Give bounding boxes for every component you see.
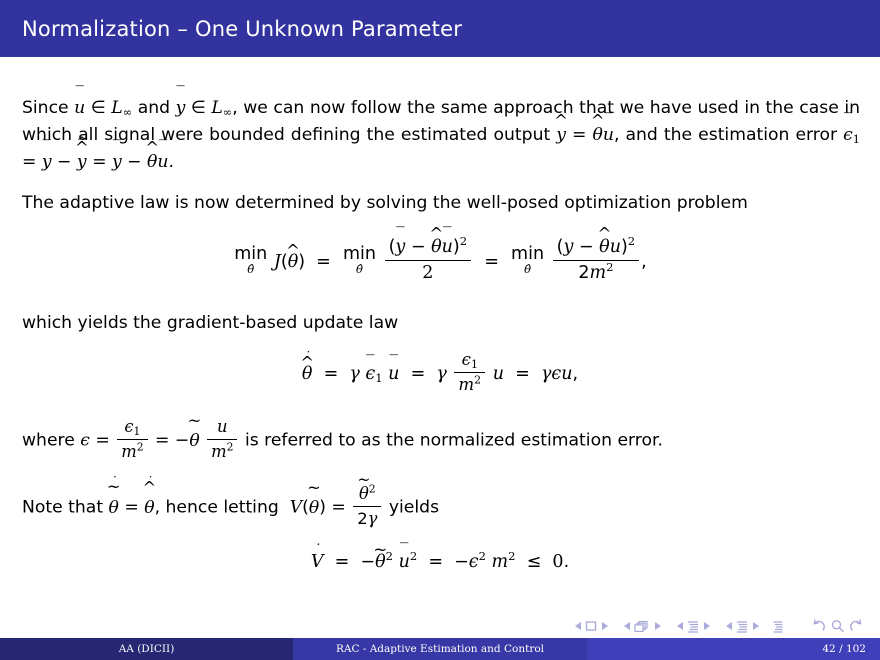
paragraph-which-yields: which yields the gradient-based update l… [22, 310, 860, 337]
math-theta-tilde: ~θ [189, 423, 199, 459]
frame-prev-icon[interactable] [624, 622, 630, 630]
footer-author: AA (DICII) [0, 638, 293, 660]
appendix-icon[interactable] [771, 620, 785, 633]
math-y-hat: ^y [556, 122, 566, 149]
nav-group-slide[interactable] [571, 620, 611, 632]
slide-next-icon[interactable] [602, 622, 608, 630]
math-u-bar: ‾u [74, 95, 85, 122]
math-y-bar-hat: ^^y [77, 149, 87, 176]
paragraph-note-pre: Note that [22, 498, 103, 518]
beamer-navigation-bar[interactable] [571, 615, 864, 637]
footer-title: RAC - Adaptive Estimation and Control [293, 638, 587, 660]
nav-group-section[interactable] [722, 620, 762, 633]
paragraph-intro: Since ‾u ∈ L∞ and ‾y ∈ L∞, we can now fo… [22, 95, 860, 176]
paragraph-normalized-error: where ϵ = ϵ1 m2 = −~θ u m2 is referred t… [22, 417, 860, 464]
forward-icon[interactable] [849, 619, 864, 633]
equation-optimization: minθ̂ J(^θ) = minθ̂ (‾y − ^θ‾u)2 2 = min… [0, 237, 880, 287]
math-epsilon-bar-1: ‾ϵ [843, 122, 853, 149]
math-theta-hat-dot: ˙^θ [302, 364, 313, 384]
subsection-prev-icon[interactable] [677, 622, 683, 630]
slide-footer: AA (DICII) RAC - Adaptive Estimation and… [0, 638, 880, 660]
paragraph-normalized-error-post: is referred to as the normalized estimat… [245, 431, 663, 451]
back-icon[interactable] [811, 619, 826, 633]
subsection-next-icon[interactable] [704, 622, 710, 630]
paragraph-normalized-error-pre: where [22, 431, 75, 451]
search-icon[interactable] [830, 619, 845, 633]
nav-group-frame[interactable] [620, 620, 664, 633]
slide-title-bar: Normalization – One Unknown Parameter [0, 0, 880, 57]
section-icon[interactable] [735, 620, 749, 633]
math-theta-hat: ^θ [593, 122, 603, 149]
paragraph-note-post: yields [389, 498, 439, 518]
equation-update-law: ˙^θ = γ ‾ϵ1 ‾u = γ ϵ1 m2 u = γϵu, [0, 350, 880, 398]
nav-group-appendix[interactable] [771, 620, 785, 633]
math-y-bar: ‾y [176, 95, 186, 122]
paragraph-note-lyapunov: Note that ˙~θ = ˙^θ, hence letting V(~θ)… [22, 484, 860, 531]
equation-lyapunov-derivative: ˙V = −~θ2 ‾u2 = −ϵ2 m2 ≤ 0. [0, 552, 880, 572]
subsection-icon[interactable] [686, 620, 700, 633]
section-next-icon[interactable] [753, 622, 759, 630]
frame-next-icon[interactable] [655, 622, 661, 630]
slide-icon[interactable] [584, 620, 598, 632]
footer-page-number: 42 / 102 [587, 638, 880, 660]
slide-prev-icon[interactable] [575, 622, 581, 630]
section-prev-icon[interactable] [726, 622, 732, 630]
page-title: Normalization – One Unknown Parameter [22, 17, 462, 41]
math-v-dot: ˙V [311, 552, 324, 572]
frame-icon[interactable] [633, 620, 651, 633]
math-theta-tilde-dot: ˙~θ [109, 490, 119, 526]
slide-content: Since ‾u ∈ L∞ and ‾y ∈ L∞, we can now fo… [0, 57, 880, 612]
paragraph-adaptive-law: The adaptive law is now determined by so… [22, 190, 860, 217]
nav-group-history[interactable] [811, 619, 864, 633]
nav-group-subsection[interactable] [673, 620, 713, 633]
